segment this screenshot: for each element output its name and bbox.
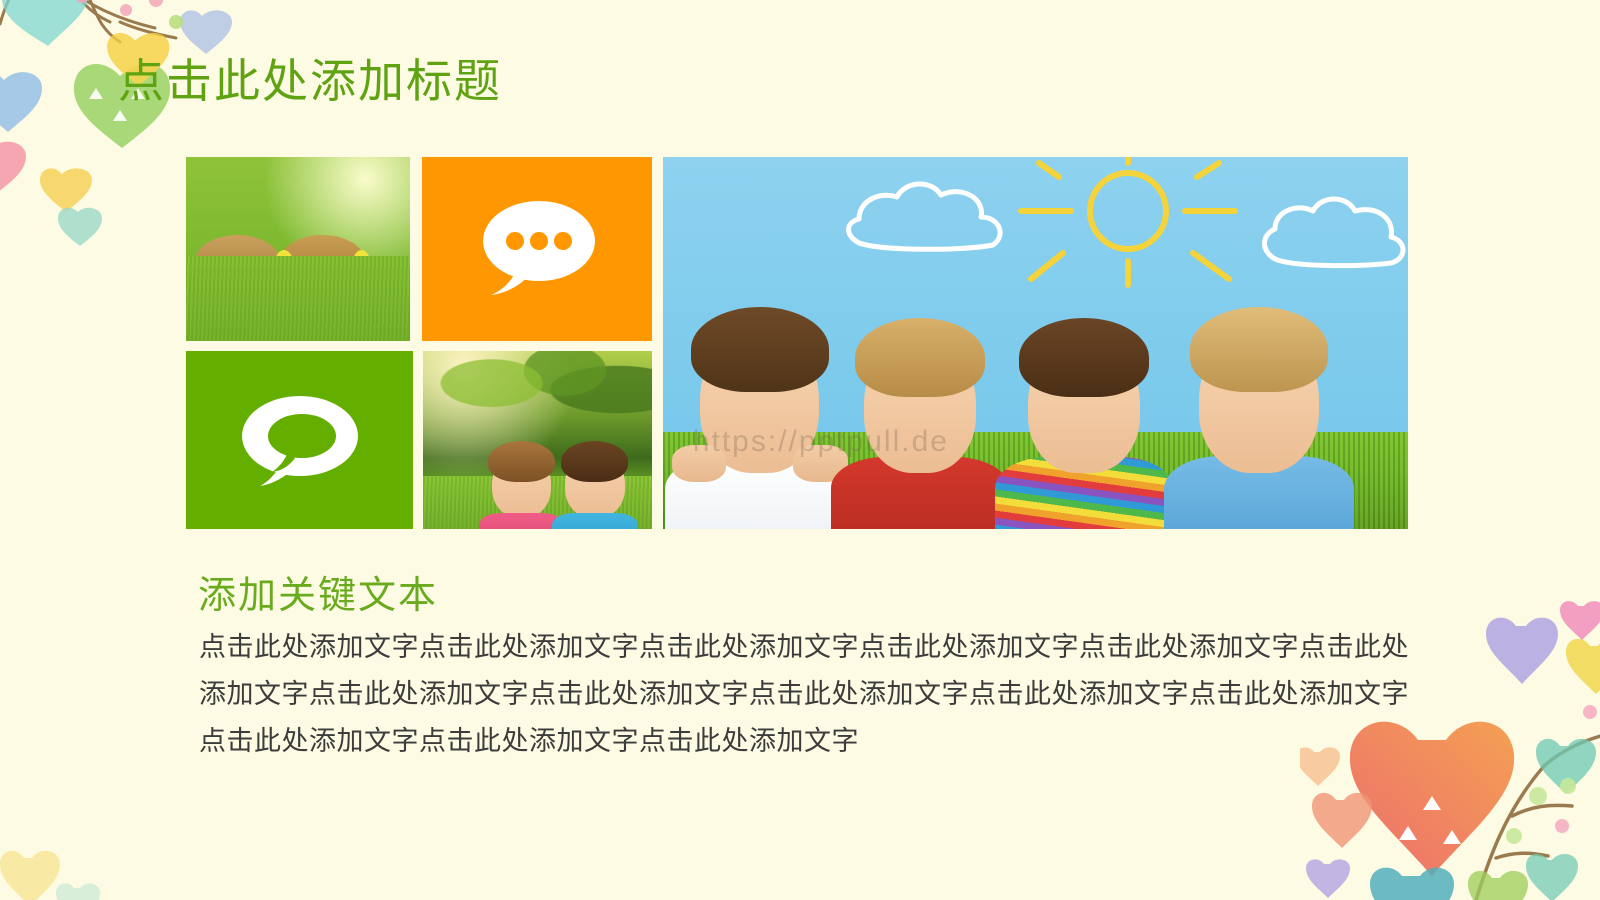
body-paragraph: 点击此处添加文字点击此处添加文字点击此处添加文字点击此处添加文字点击此处添加文字… <box>199 624 1425 765</box>
section-subheading: 添加关键文本 <box>198 564 438 619</box>
kid-figure <box>285 248 361 333</box>
tile-chat-bubble-green[interactable] <box>186 351 413 529</box>
speech-bubble-outline-icon <box>238 390 362 490</box>
watercolor-hearts-small-icon <box>0 810 110 900</box>
tile-photo-two-kids-grass[interactable] <box>186 157 410 341</box>
photo-two-kids-grass <box>186 157 410 341</box>
tile-photo-two-girls-garden[interactable] <box>423 351 652 529</box>
kid-figure <box>492 452 552 519</box>
orange-panel <box>422 157 652 341</box>
speech-bubble-dots-icon <box>477 197 597 301</box>
kid-figure <box>1199 333 1318 474</box>
tile-chat-bubble-orange[interactable] <box>422 157 652 341</box>
slide-canvas: 点击此处添加标题 <box>0 0 1600 900</box>
photo-four-kids-sky: https://pptpull.de <box>663 157 1408 529</box>
photo-two-girls-garden <box>423 351 652 529</box>
kid-figure <box>199 248 275 333</box>
green-panel <box>186 351 413 529</box>
kid-figure <box>565 452 625 519</box>
page-title: 点击此处添加标题 <box>118 56 502 108</box>
watermark-text: https://pptpull.de <box>693 425 949 459</box>
tile-photo-four-kids-sky[interactable]: https://pptpull.de <box>663 157 1408 529</box>
kid-figure <box>1028 341 1140 473</box>
